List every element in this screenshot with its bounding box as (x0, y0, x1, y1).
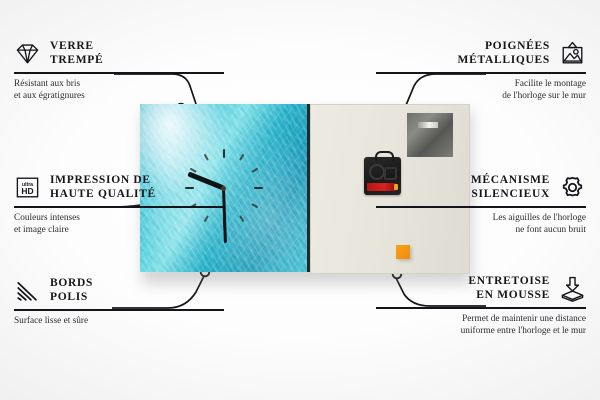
feature-subtitle: Couleurs intenses et image claire (14, 212, 224, 236)
feature-title: ENTRETOISE EN MOUSSE (468, 275, 550, 302)
feature-subtitle: Facilite le montage de l'horloge sur le … (376, 78, 586, 102)
feature-mecanisme-silencieux: MÉCANISME SILENCIEUX Les aiguilles de l'… (376, 174, 586, 236)
feature-subtitle: Permet de maintenir une distance uniform… (376, 313, 586, 337)
divider (14, 309, 224, 311)
feature-title: VERRE TREMPÉ (50, 40, 103, 67)
divider (376, 307, 586, 309)
feature-poignees-metalliques: POIGNÉES MÉTALLIQUES Facilite le montage… (376, 40, 586, 102)
svg-text:HD: HD (21, 186, 33, 196)
feature-bords-polis: BORDS POLIS Surface lisse et sûre (14, 277, 224, 327)
divider (14, 206, 224, 208)
foam-spacer-part (396, 245, 410, 259)
feature-impression-haute-qualite: ultra HD IMPRESSION DE HAUTE QUALITÉ Cou… (14, 174, 224, 236)
divider (376, 72, 586, 74)
hanging-loop-icon (375, 151, 394, 161)
feature-subtitle: Les aiguilles de l'horloge ne font aucun… (376, 212, 586, 236)
feature-title: POIGNÉES MÉTALLIQUES (458, 40, 550, 67)
framed-picture-hook-icon (559, 40, 586, 67)
divider (14, 72, 224, 74)
polished-edge-lines-icon (14, 277, 41, 304)
arrow-down-onto-pad-icon (559, 275, 586, 302)
feature-subtitle: Résistant aux bris et aux égratignures (14, 78, 224, 102)
feature-entretoise-en-mousse: ENTRETOISE EN MOUSSE Permet de maintenir… (376, 275, 586, 337)
metal-hanger-plate-part (407, 113, 453, 157)
infographic-canvas: VERRE TREMPÉ Résistant aux bris et aux é… (0, 0, 600, 400)
divider (376, 206, 586, 208)
gear-icon (559, 174, 586, 201)
diamond-icon (14, 40, 41, 67)
feature-title: BORDS POLIS (50, 277, 93, 304)
ultra-hd-badge-icon: ultra HD (14, 174, 41, 201)
feature-title: IMPRESSION DE HAUTE QUALITÉ (50, 174, 156, 201)
feature-title: MÉCANISME SILENCIEUX (471, 174, 550, 201)
feature-subtitle: Surface lisse et sûre (14, 315, 224, 327)
feature-verre-trempe: VERRE TREMPÉ Résistant aux bris et aux é… (14, 40, 224, 102)
